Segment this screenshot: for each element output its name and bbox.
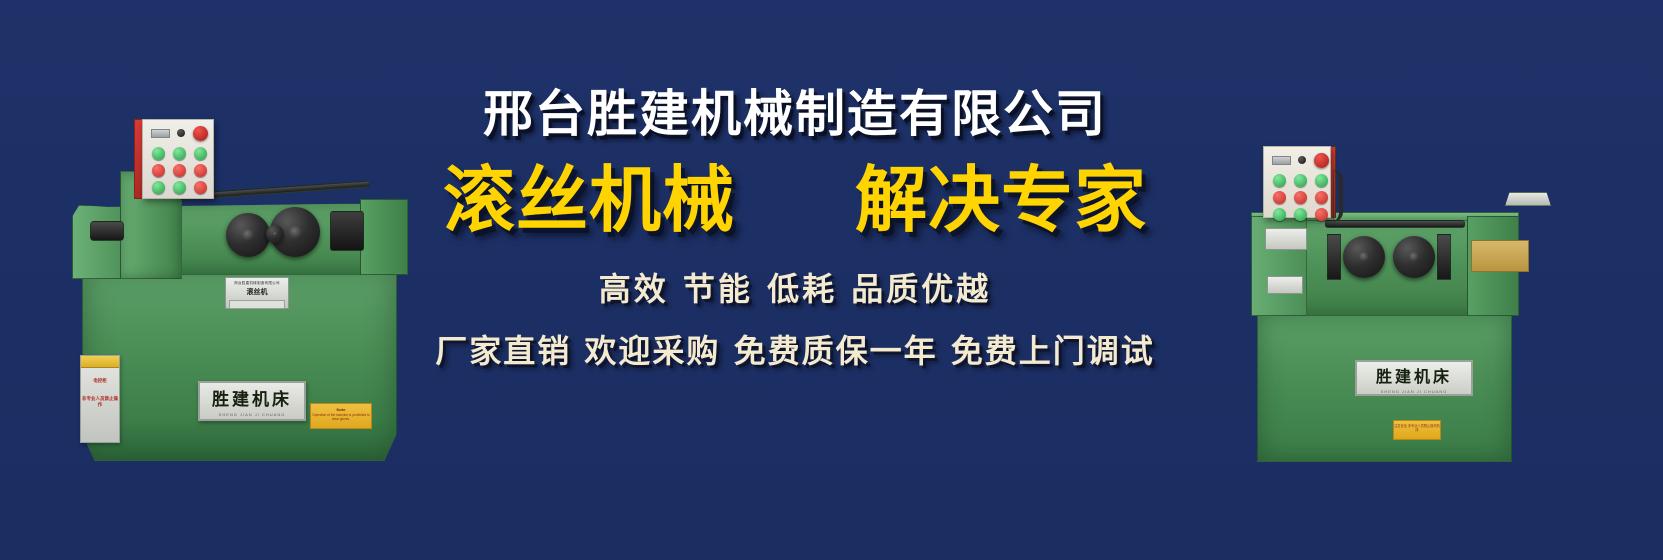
panel-button-red [194, 181, 207, 194]
promo-banner: 邢台胜建机械制造有限公司 滚丝机 胜建机床 SHENG JIAN JI CHUA… [0, 0, 1663, 560]
machine-right-spec-plate-2 [1267, 276, 1303, 294]
warning-title: Note [311, 407, 371, 412]
panel-button-green [152, 181, 165, 194]
headline-row: 滚丝机械 解决专家 [400, 163, 1190, 239]
panel-button-red [1315, 208, 1328, 221]
machine-left-roller-small [266, 225, 284, 243]
machine-right-roller-1 [1343, 236, 1385, 278]
machine-left-electrical-cabinet: 电控柜 非专业人员禁止操作 [80, 355, 120, 443]
display-icon [1272, 156, 1291, 165]
panel-button-red [173, 164, 186, 177]
nameplate-text: 胜建机床 [1376, 363, 1452, 387]
panel-button-green [1273, 174, 1286, 187]
cabinet-yellow-strip [81, 356, 119, 368]
machine-left-motor [330, 211, 364, 251]
machine-right-brass-plate [1471, 240, 1529, 272]
spec-maker: 邢台胜建机械制造有限公司 [226, 281, 288, 286]
panel-button-red [1273, 191, 1286, 204]
cabinet-label-bottom: 非专业人员禁止操作 [81, 396, 119, 408]
display-icon [151, 129, 170, 138]
emergency-stop-icon [1314, 153, 1329, 168]
tagline-primary: 高效 节能 低耗 品质优越 [400, 264, 1190, 310]
machine-left-roller-1 [226, 213, 270, 257]
panel-button-green [1315, 174, 1328, 187]
company-name: 邢台胜建机械制造有限公司 [400, 88, 1190, 141]
headline-right: 解决专家 [855, 163, 1147, 239]
machine-left-warning-label: Note Operation of the machine is prohibi… [310, 403, 372, 429]
headline-left: 滚丝机械 [443, 163, 735, 239]
panel-button-green [173, 181, 186, 194]
machine-photo-right: 胜建机床 SHENG JIAN JI CHUANG 注意安全 非专业人员禁止操作… [1175, 130, 1635, 460]
banner-copy: 邢台胜建机械制造有限公司 滚丝机械 解决专家 高效 节能 低耗 品质优越 厂家直… [400, 88, 1190, 372]
machine-right-clamp-2 [1437, 234, 1451, 280]
nameplate-pinyin: SHENG JIAN JI CHUANG [1381, 389, 1448, 394]
machine-photo-left: 邢台胜建机械制造有限公司 滚丝机 胜建机床 SHENG JIAN JI CHUA… [30, 95, 420, 470]
cabinet-label-top: 电控柜 [81, 378, 119, 384]
machine-right-spec-plate [1265, 228, 1307, 250]
spec-model: 滚丝机 [226, 287, 288, 297]
machine-left-nameplate: 胜建机床 SHENG JIAN JI CHUANG [198, 381, 306, 421]
panel-button-green [1294, 208, 1307, 221]
panel-button-red [1315, 191, 1328, 204]
machine-right-nameplate: 胜建机床 SHENG JIAN JI CHUANG [1355, 360, 1473, 396]
machine-left-control-panel [142, 119, 214, 199]
machine-left-spindle [90, 221, 124, 241]
machine-left-spec-plate: 邢台胜建机械制造有限公司 滚丝机 [225, 277, 289, 309]
machine-right-roller-2 [1393, 236, 1435, 278]
machine-right-control-panel [1263, 146, 1331, 218]
machine-right-hose [1333, 170, 1343, 222]
nameplate-pinyin: SHENG JIAN JI CHUANG [219, 412, 286, 417]
machine-right-warning-label: 注意安全 非专业人员禁止操作机床 [1393, 420, 1441, 440]
machine-right-button-grid [1270, 173, 1330, 221]
warning-text: 注意安全 非专业人员禁止操作机床 [1394, 424, 1440, 433]
emergency-stop-icon [193, 126, 208, 141]
knob-icon [1298, 156, 1306, 164]
warning-text: Operation of the machine is prohibited t… [311, 413, 371, 422]
machine-left-button-grid [149, 146, 209, 194]
panel-button-green [152, 147, 165, 160]
panel-button-red [152, 164, 165, 177]
panel-button-green [173, 147, 186, 160]
machine-right-clamp-1 [1327, 234, 1341, 280]
panel-button-red [194, 164, 207, 177]
panel-button-red [1294, 191, 1307, 204]
nameplate-text: 胜建机床 [212, 385, 292, 410]
machine-right-tool-rest [1505, 192, 1551, 206]
panel-button-green [1273, 208, 1286, 221]
spec-table [229, 300, 285, 309]
machine-left-head-left [72, 205, 124, 279]
tagline-secondary: 厂家直销 欢迎采购 免费质保一年 免费上门调试 [400, 326, 1190, 372]
machine-right-top-bar [1325, 220, 1465, 228]
knob-icon [177, 129, 185, 137]
panel-button-green [1294, 174, 1307, 187]
panel-button-green [194, 147, 207, 160]
